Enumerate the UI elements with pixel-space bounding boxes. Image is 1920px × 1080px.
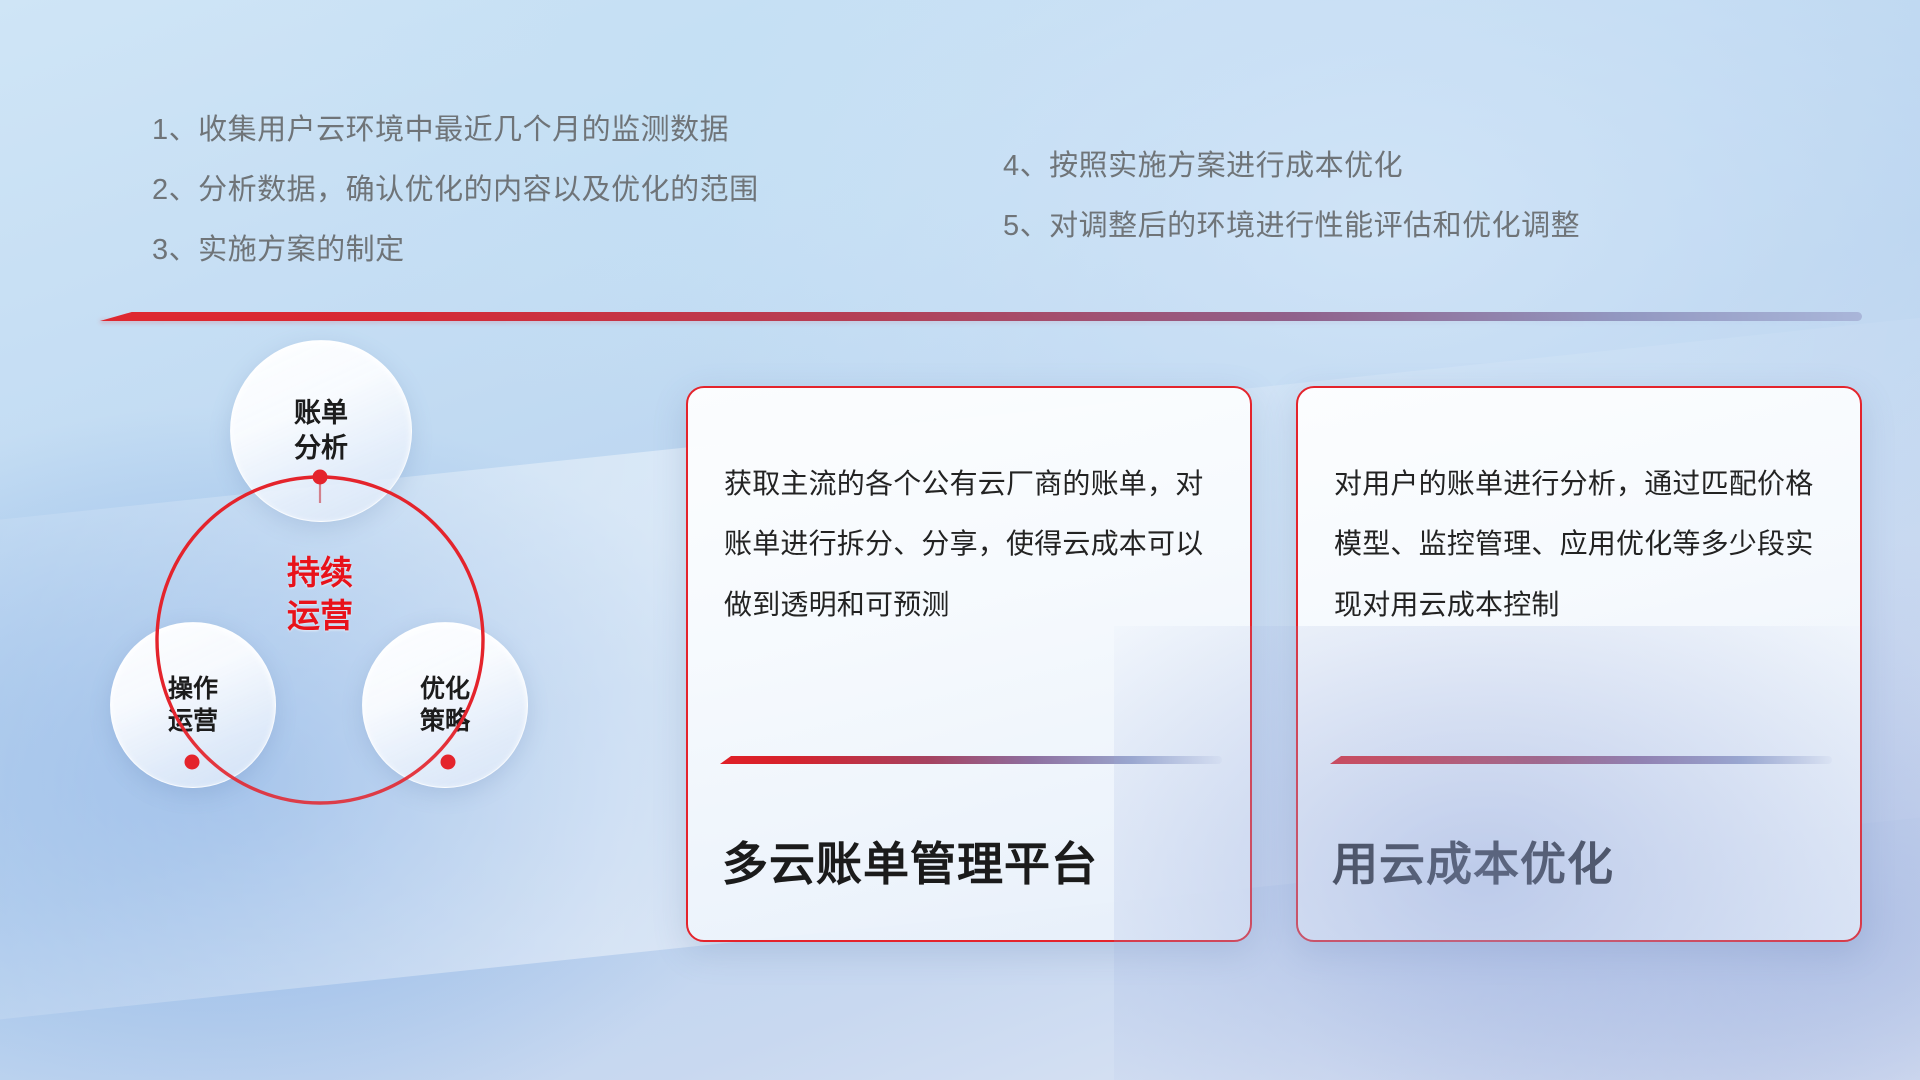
step-item-2: 2、分析数据，确认优化的内容以及优化的范围 bbox=[152, 176, 759, 205]
venn-center-label-line1: 持续 bbox=[220, 552, 420, 595]
step-item-1: 1、收集用户云环境中最近几个月的监测数据 bbox=[152, 116, 759, 145]
info-card-1-divider bbox=[720, 756, 1222, 764]
slide-canvas: 1、收集用户云环境中最近几个月的监测数据 2、分析数据，确认优化的内容以及优化的… bbox=[0, 0, 1920, 1080]
venn-rings-svg bbox=[90, 340, 650, 940]
info-card-1-title: 多云账单管理平台 bbox=[722, 828, 1226, 894]
steps-list-right: 4、按照实施方案进行成本优化 5、对调整后的环境进行性能评估和优化调整 bbox=[1003, 152, 1580, 241]
venn-center-label-line2: 运营 bbox=[220, 595, 420, 638]
steps-list-left: 1、收集用户云环境中最近几个月的监测数据 2、分析数据，确认优化的内容以及优化的… bbox=[152, 116, 759, 265]
venn-center-ring bbox=[157, 477, 483, 803]
info-card-2-title: 用云成本优化 bbox=[1332, 828, 1836, 894]
venn-node-top bbox=[313, 470, 328, 485]
venn-node-right bbox=[441, 755, 456, 770]
venn-center-label: 持续 运营 bbox=[220, 552, 420, 638]
info-card-2-body: 对用户的账单进行分析，通过匹配价格模型、监控管理、应用优化等多少段实现对用云成本… bbox=[1334, 454, 1830, 635]
venn-node-left bbox=[185, 755, 200, 770]
info-card-cloud-cost-optimization[interactable]: 对用户的账单进行分析，通过匹配价格模型、监控管理、应用优化等多少段实现对用云成本… bbox=[1296, 386, 1862, 942]
step-item-4: 4、按照实施方案进行成本优化 bbox=[1003, 152, 1580, 181]
info-card-2-divider bbox=[1330, 756, 1832, 764]
step-item-5: 5、对调整后的环境进行性能评估和优化调整 bbox=[1003, 212, 1580, 241]
info-card-multicloud-billing[interactable]: 获取主流的各个公有云厂商的账单，对账单进行拆分、分享，使得云成本可以做到透明和可… bbox=[686, 386, 1252, 942]
step-item-3: 3、实施方案的制定 bbox=[152, 236, 759, 265]
info-card-1-body: 获取主流的各个公有云厂商的账单，对账单进行拆分、分享，使得云成本可以做到透明和可… bbox=[724, 454, 1220, 635]
venn-diagram: 账单 分析 操作 运营 优化 策略 持续 运营 bbox=[90, 340, 650, 940]
header-divider bbox=[100, 312, 1862, 321]
